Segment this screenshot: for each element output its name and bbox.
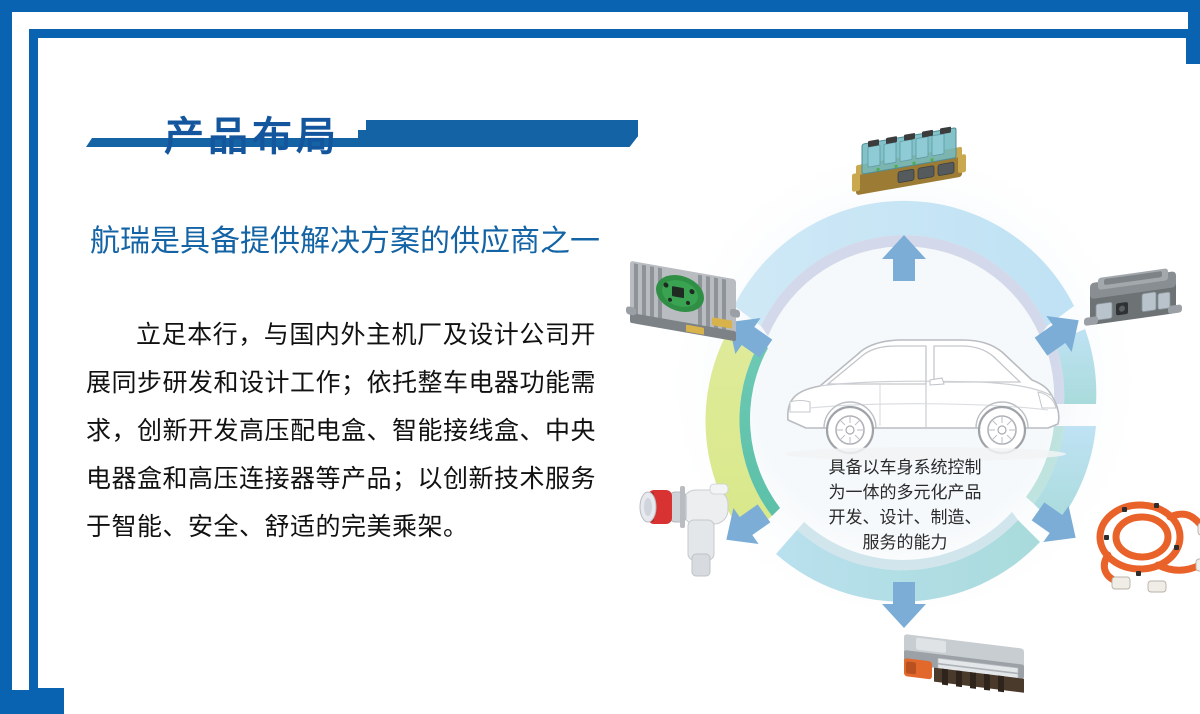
title-banner: 产品布局 [64, 64, 664, 184]
center-caption: 具备以车身系统控制 为一体的多元化产品 开发、设计、制造、 服务的能力 [780, 456, 1030, 556]
page-title: 产品布局 [164, 104, 340, 162]
diagram-svg [604, 74, 1200, 714]
slide-canvas: 产品布局 航瑞是具备提供解决方案的供应商之一 立足本行，与国内外主机厂及设计公司… [64, 64, 1200, 714]
slide-border-gap: 产品布局 航瑞是具备提供解决方案的供应商之一 立足本行，与国内外主机厂及设计公司… [12, 12, 1188, 690]
product-power-module [904, 634, 1024, 695]
body-paragraph: 立足本行，与国内外主机厂及设计公司开展同步研发和设计工作；依托整车电器功能需求，… [86, 312, 596, 552]
product-layout-diagram: 具备以车身系统控制 为一体的多元化产品 开发、设计、制造、 服务的能力 [604, 74, 1200, 714]
headline: 航瑞是具备提供解决方案的供应商之一 [90, 216, 600, 260]
title-bar-block [358, 120, 638, 147]
slide-outer-border: 产品布局 航瑞是具备提供解决方案的供应商之一 立足本行，与国内外主机厂及设计公司… [0, 0, 1200, 702]
center-caption-line-2: 为一体的多元化产品 [780, 481, 1030, 506]
slide-inner-border: 产品布局 航瑞是具备提供解决方案的供应商之一 立足本行，与国内外主机厂及设计公司… [29, 29, 1195, 697]
center-caption-line-1: 具备以车身系统控制 [780, 456, 1030, 481]
center-caption-line-4: 服务的能力 [780, 531, 1030, 556]
center-caption-line-3: 开发、设计、制造、 [780, 506, 1030, 531]
